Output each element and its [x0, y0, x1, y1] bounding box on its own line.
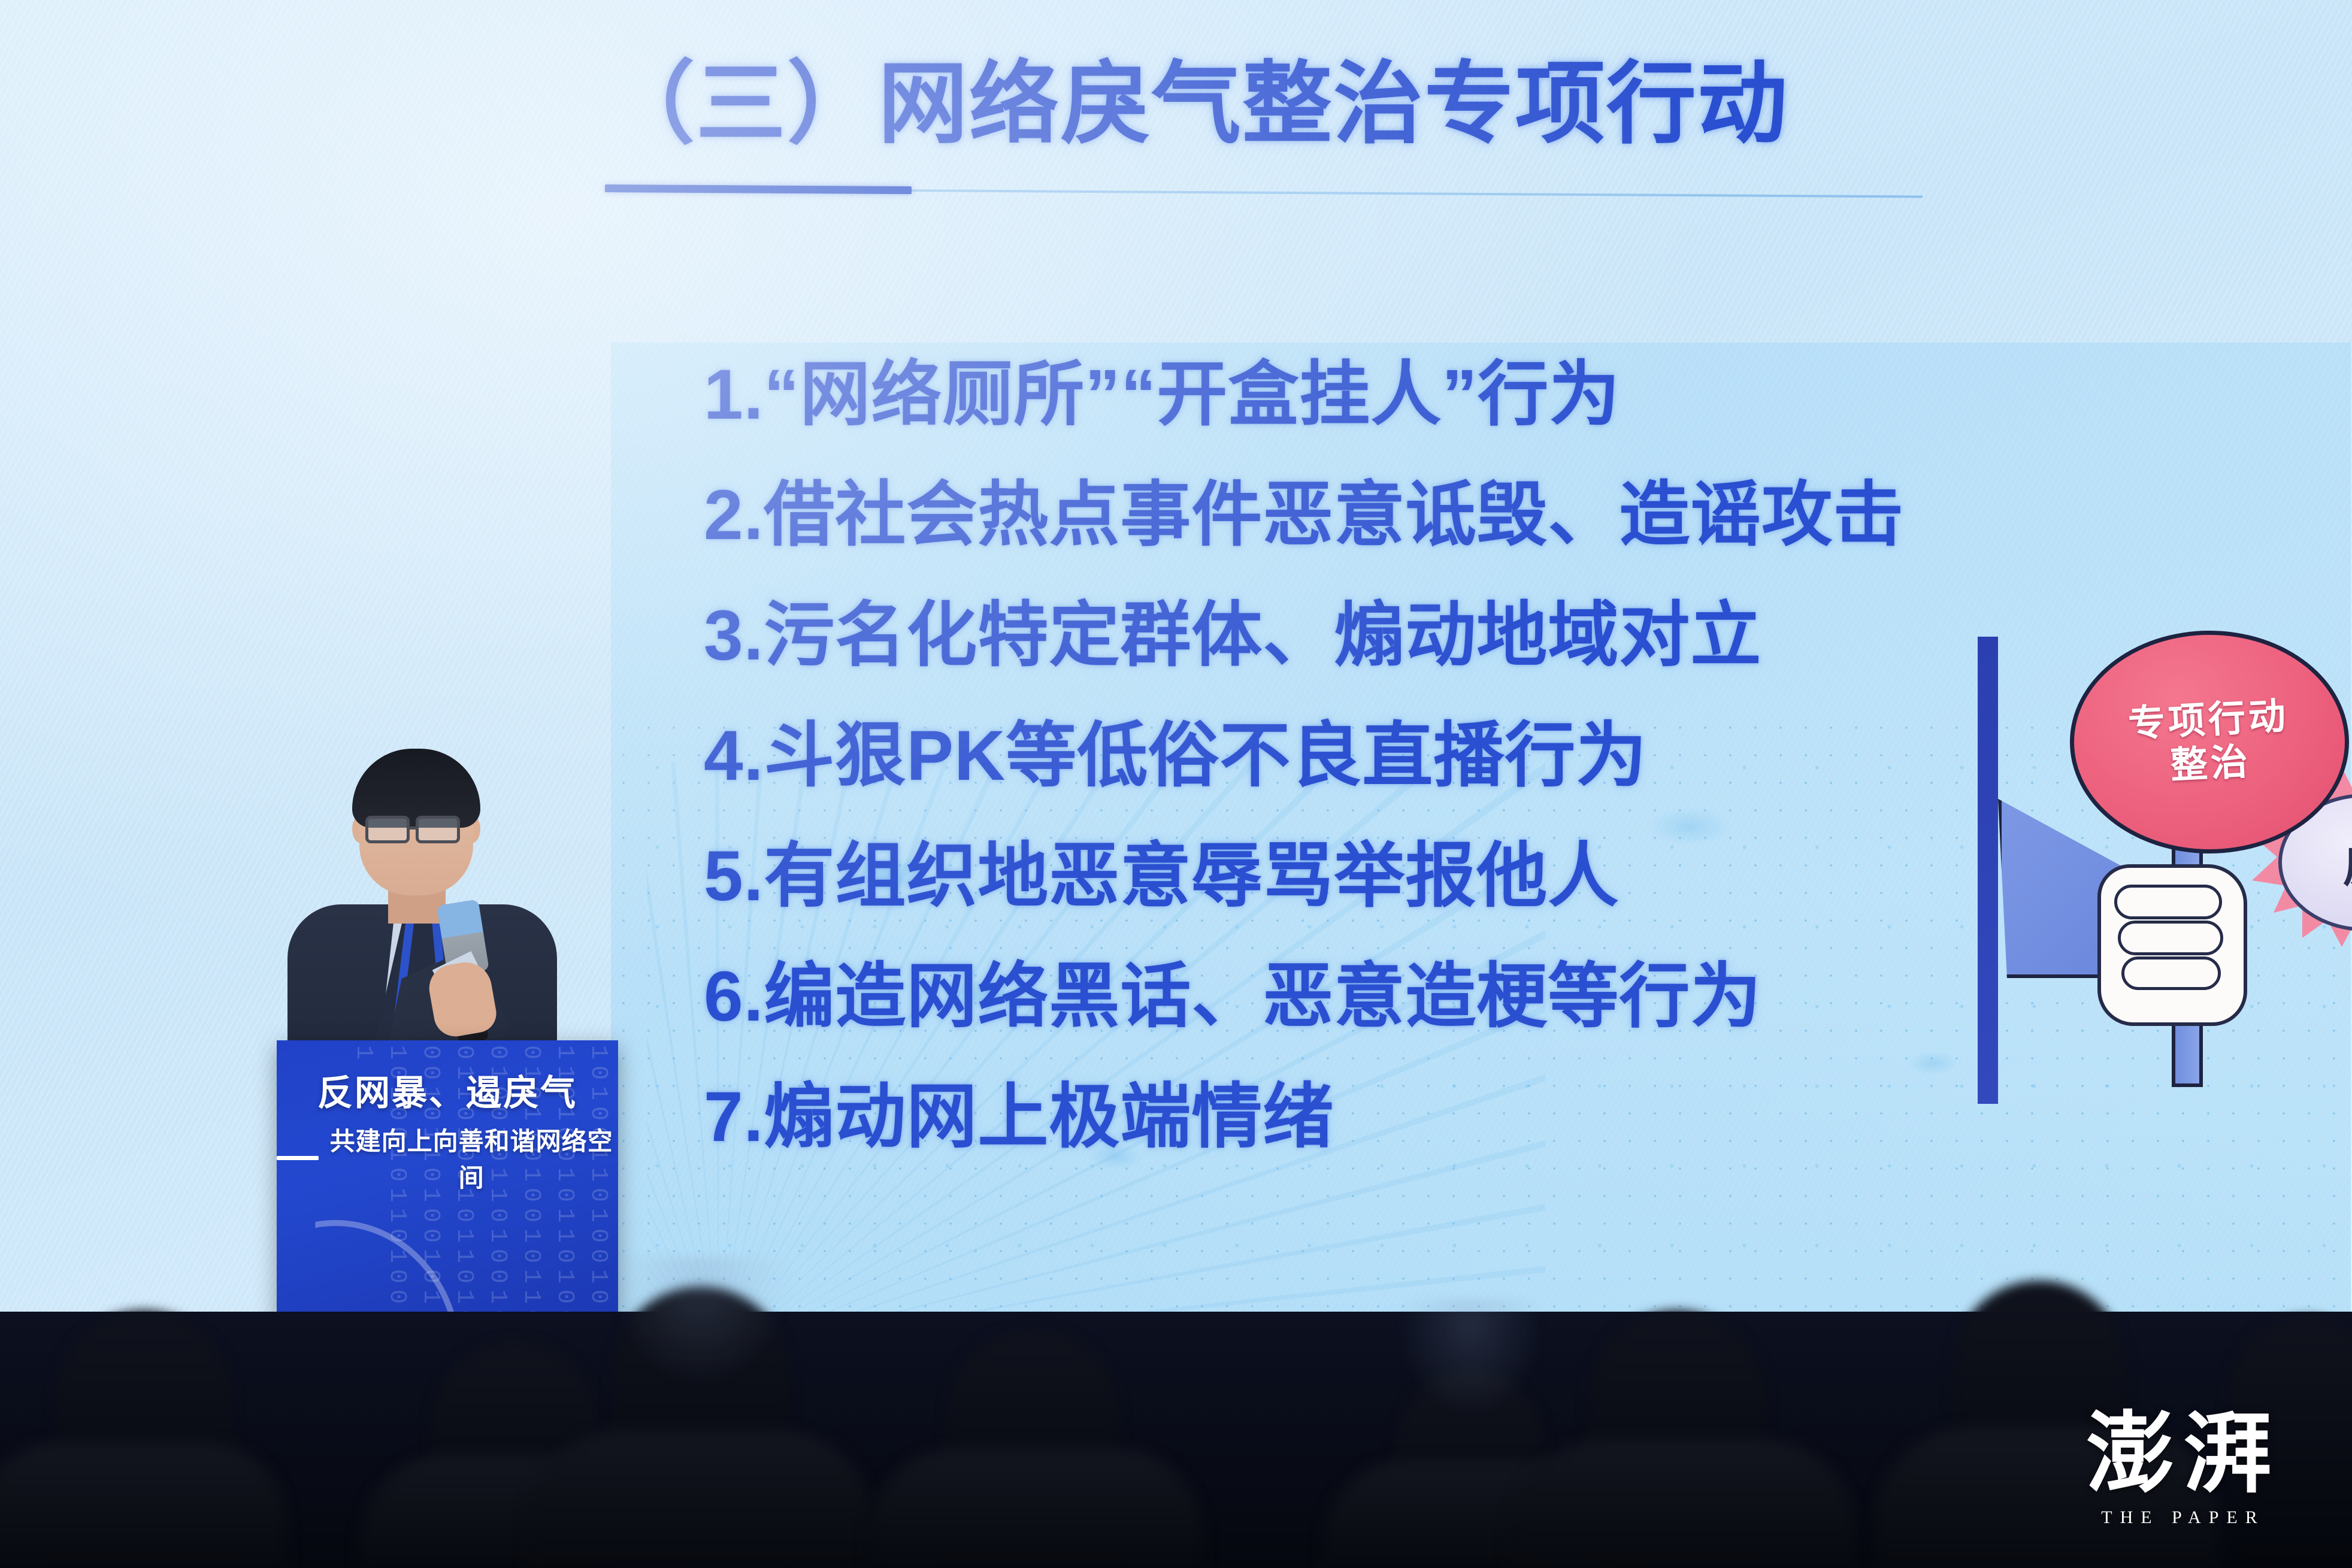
audience-shoulders	[868, 1448, 1204, 1568]
list-item: 4.斗狠PK等低俗不良直播行为	[704, 721, 1991, 791]
audience-shoulders	[527, 1430, 874, 1568]
list-item: 6.编造网络黑话、恶意造梗等行为	[704, 961, 1991, 1032]
em-dash-decoration	[277, 1156, 319, 1160]
slide-title: （三）网络戾气整治专项行动	[605, 51, 1982, 157]
slide-illustration: 戾 专项行动 整治	[1964, 626, 2352, 1114]
slide-bullet-list: 1.“网络厕所”“开盒挂人”行为 2.借社会热点事件恶意诋毁、造谣攻击 3.污名…	[704, 359, 1991, 1152]
audience-shoulders	[1875, 1427, 2222, 1568]
podium-subline-row: 共建向上向善和谐网络空间	[277, 1121, 618, 1194]
eyeglasses-lens-left	[365, 816, 410, 843]
title-underline-thick	[605, 184, 912, 194]
paddle-label-line2: 整治	[2169, 740, 2252, 788]
finger-shape	[2114, 885, 2222, 919]
conference-photo: （三）网络戾气整治专项行动 1.“网络厕所”“开盒挂人”行为 2.借社会热点事件…	[0, 0, 2352, 1568]
list-item: 3.污名化特定群体、煽动地域对立	[704, 600, 1991, 671]
audience-hair-highlight	[1396, 1298, 1545, 1418]
audience-hair-highlight	[611, 1257, 791, 1388]
audience-shoulders	[1509, 1439, 1857, 1568]
action-paddle-icon: 专项行动 整治	[2070, 631, 2349, 853]
eyeglasses-bridge	[410, 827, 417, 830]
list-item: 1.“网络厕所”“开盒挂人”行为	[704, 359, 1991, 430]
podium-text-block: 反网暴、遏戾气 共建向上向善和谐网络空间	[277, 1064, 618, 1194]
paddle-handle-lower	[2172, 1015, 2203, 1087]
audience-shoulders	[0, 1442, 287, 1568]
title-underline	[605, 183, 1923, 193]
eyeglasses-lens-right	[416, 816, 460, 843]
podium-headline: 反网暴、遏戾气	[277, 1064, 618, 1115]
paddle-label-group: 专项行动 整治	[2069, 628, 2350, 856]
audience-head	[2228, 1316, 2352, 1568]
list-item: 7.煽动网上极端情绪	[704, 1082, 1991, 1152]
finger-shape	[2118, 921, 2223, 955]
podium-subline: 共建向上向善和谐网络空间	[325, 1121, 618, 1194]
finger-shape	[2121, 956, 2221, 990]
list-item: 5.有组织地恶意辱骂举报他人	[704, 841, 1991, 912]
vertical-bar-decoration	[1978, 637, 1998, 1104]
list-item: 2.借社会热点事件恶意诋毁、造谣攻击	[704, 480, 1991, 550]
paddle-label-line1: 专项行动	[2127, 694, 2289, 746]
